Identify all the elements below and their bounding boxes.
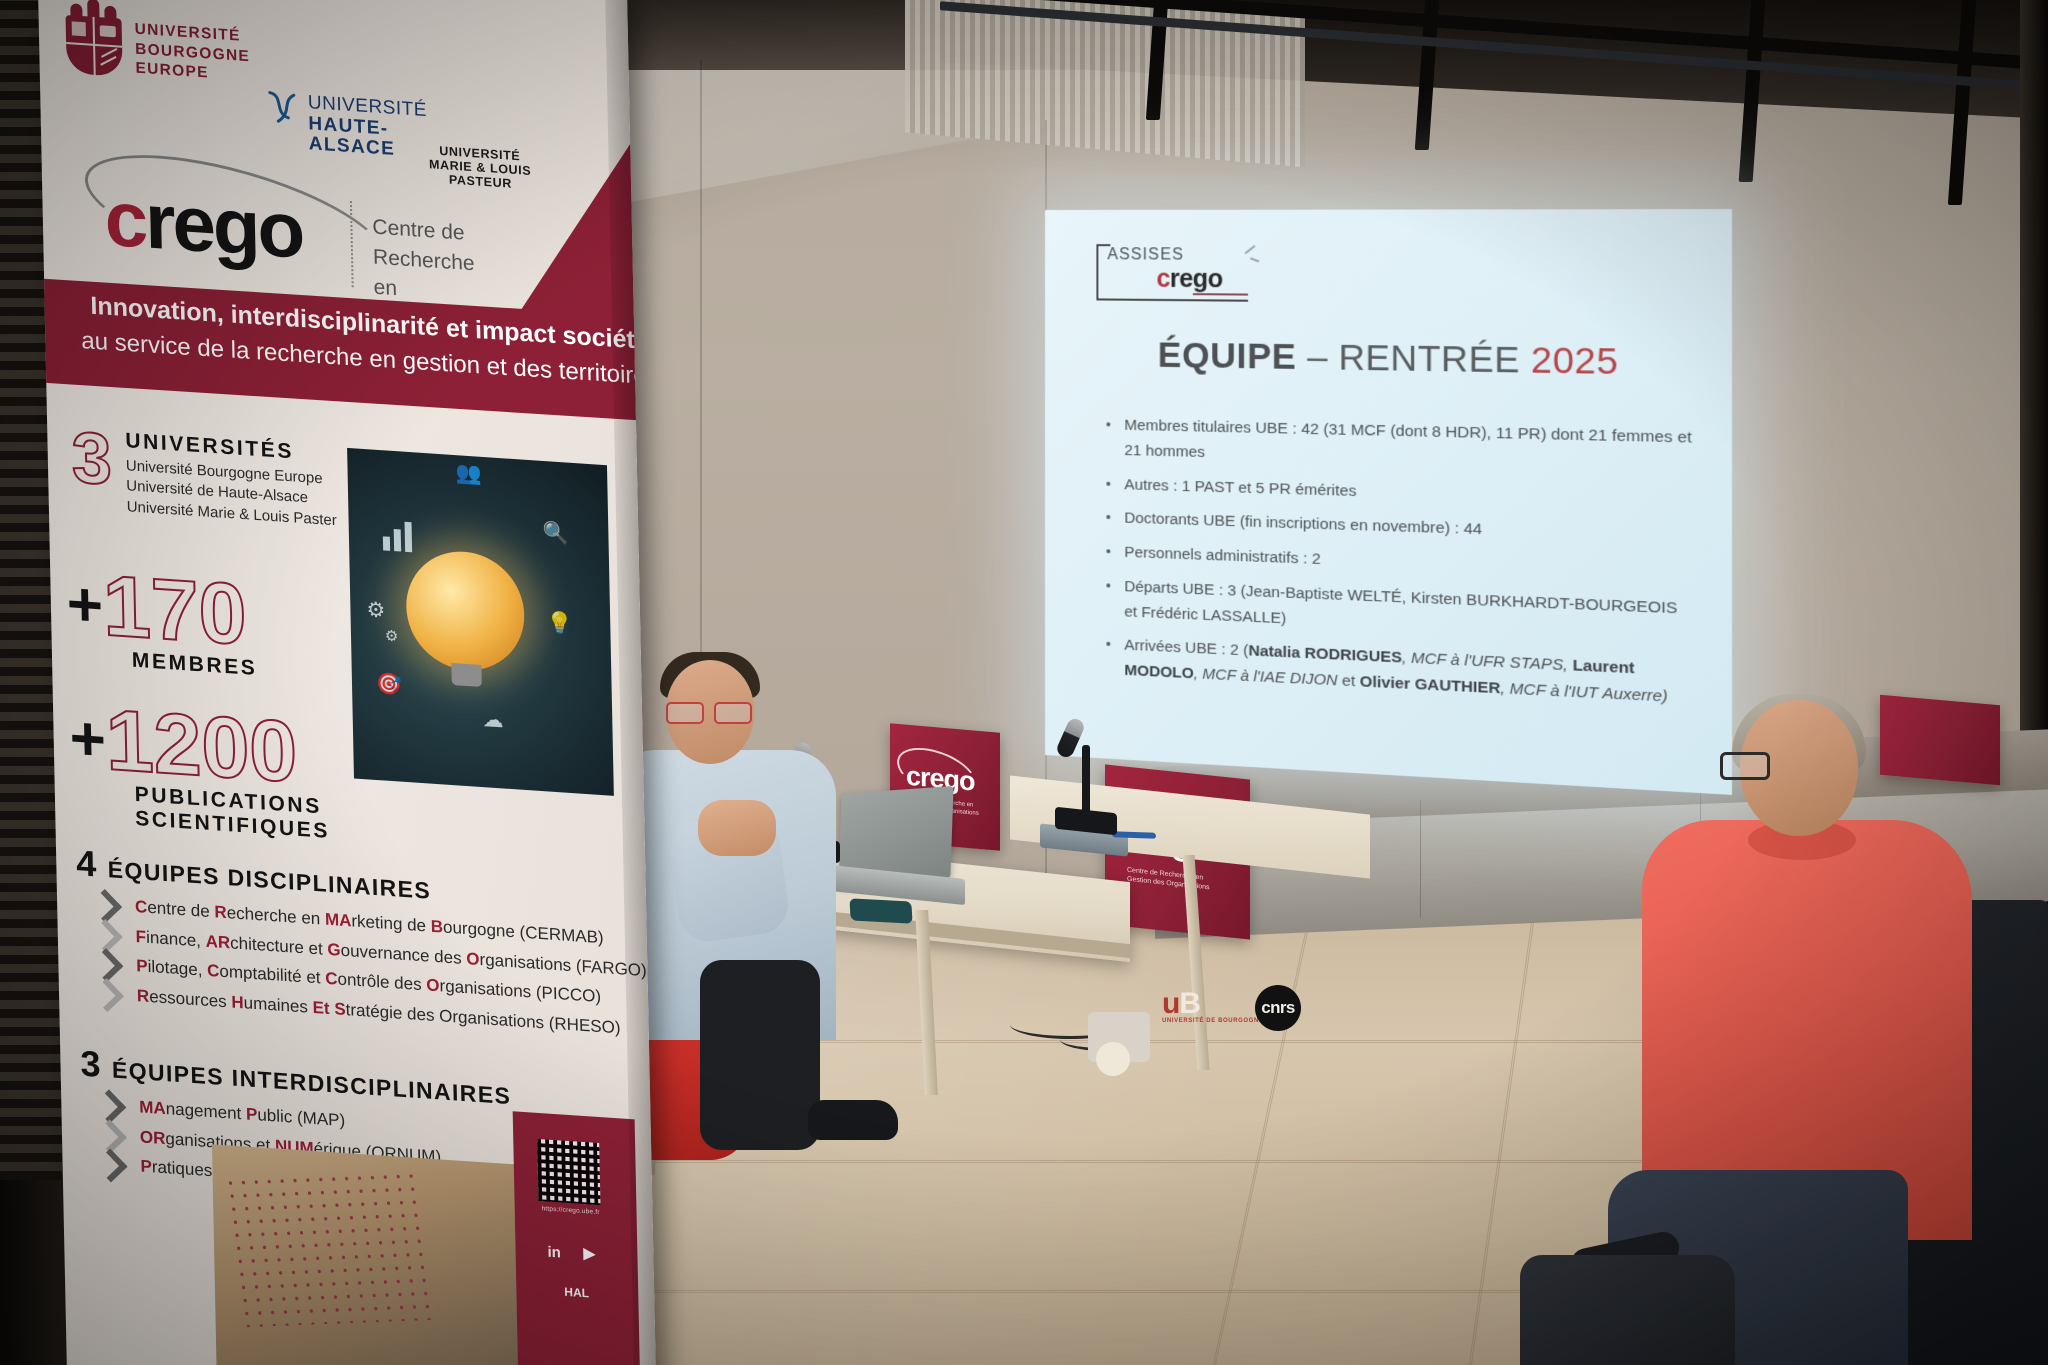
cermab-p2: R bbox=[214, 902, 227, 922]
search-icon: 🔍 bbox=[542, 521, 569, 547]
ube-shield-icon bbox=[62, 0, 126, 77]
banner-illustration: ⚙ ⚙ 🔍 💡 🎯 ☁ 👥 bbox=[347, 448, 614, 796]
bar-chart-bar-2 bbox=[394, 529, 401, 552]
target-icon: 🎯 bbox=[376, 672, 403, 698]
teams-interdisciplinary-count: 3 bbox=[80, 1042, 102, 1085]
stat-publications: + 1200 PUBLICATIONS SCIENTIFIQUES bbox=[69, 699, 330, 844]
qr-code[interactable] bbox=[537, 1139, 600, 1205]
fargo-p3: G bbox=[327, 940, 341, 960]
cermab-t3: rketing de bbox=[351, 911, 431, 935]
bullet6-lead: Arrivées UBE : 2 ( bbox=[1124, 637, 1248, 660]
fargo-t1: inance, bbox=[146, 927, 206, 950]
rheso-p2: H bbox=[231, 993, 244, 1013]
chevron-icon bbox=[90, 978, 124, 1012]
fargo-p2: AR bbox=[205, 931, 230, 952]
stat-universites-sub: Université Bourgogne Europe Université d… bbox=[126, 456, 337, 531]
cermab-t2: echerche en bbox=[227, 903, 326, 929]
ub-logo-u: u bbox=[1162, 987, 1179, 1020]
bullet6-role2: , MCF à l'IAE DIJON bbox=[1194, 665, 1338, 689]
rheso-t2: umaines bbox=[243, 993, 312, 1017]
teams-disciplinary-count: 4 bbox=[76, 842, 98, 885]
stat-membres-plus: + bbox=[66, 576, 103, 634]
fargo-t2: chitecture et bbox=[230, 933, 328, 959]
stage-seam bbox=[1420, 800, 1421, 918]
glasses-lens-left bbox=[666, 702, 704, 724]
cloud-icon: ☁ bbox=[482, 707, 504, 733]
bullet6-name3: Olivier GAUTHIER bbox=[1360, 673, 1501, 698]
microphone-stem-right bbox=[1082, 745, 1090, 819]
crego-cube-center-sub: Centre de Recherche en Gestion des Organ… bbox=[1127, 867, 1210, 893]
backpack bbox=[1520, 1255, 1735, 1365]
cnrs-logo: cnrs bbox=[1255, 985, 1301, 1031]
ube-logo-text: UNIVERSITÉ BOURGOGNE EUROPE bbox=[134, 20, 250, 86]
people-icon: 👥 bbox=[455, 461, 482, 487]
lightbulb-icon bbox=[405, 548, 525, 674]
picco-p4: O bbox=[426, 976, 440, 996]
crego-word: crego bbox=[104, 173, 303, 277]
cermab-p3: MA bbox=[325, 910, 352, 931]
ornum-p1: OR bbox=[140, 1127, 166, 1148]
slide-title-bold: ÉQUIPE bbox=[1158, 335, 1297, 377]
bar-chart-bar-1 bbox=[383, 536, 390, 550]
stat-publications-plus: + bbox=[69, 710, 106, 768]
bullet6-role1: , MCF à l'UFR STAPS, bbox=[1402, 649, 1573, 675]
universite-bourgogne-logo: uB UNIVERSITÉ DE BOURGOGNE bbox=[1162, 987, 1200, 1021]
logo-spark-icon bbox=[1245, 245, 1256, 254]
cermab-t4: ourgogne (CERMAB) bbox=[443, 917, 604, 947]
ube-logo: UNIVERSITÉ BOURGOGNE EUROPE bbox=[62, 0, 313, 90]
stat-membres-number: 170 bbox=[102, 568, 247, 655]
gear-icon: ⚙ bbox=[366, 597, 385, 623]
chevron-icon bbox=[94, 1149, 128, 1183]
crego-left-c: c bbox=[906, 761, 920, 792]
fargo-p4: O bbox=[466, 949, 480, 969]
cermab-p1: C bbox=[135, 897, 148, 917]
slide-logo-crego-text: crego bbox=[1156, 265, 1222, 295]
picco-t2: omptabilité et bbox=[219, 962, 325, 988]
cermab-p4: B bbox=[431, 917, 444, 937]
cermab-t1: entre de bbox=[147, 898, 214, 922]
hal-icon[interactable]: HAL bbox=[564, 1285, 589, 1301]
bar-chart-bar-3 bbox=[405, 522, 413, 553]
uha-mark-icon bbox=[264, 86, 305, 129]
uha-logo: UNIVERSITÉ HAUTE-ALSACE bbox=[272, 91, 462, 104]
bulb-small-icon: 💡 bbox=[546, 611, 573, 637]
bullet6-name1: Natalia RODRIGUES bbox=[1248, 642, 1402, 667]
stat-publications-number: 1200 bbox=[105, 702, 298, 792]
youtube-icon[interactable]: ▶ bbox=[583, 1244, 595, 1263]
floor-light-bulb bbox=[1096, 1042, 1130, 1076]
ub-logo-caption: UNIVERSITÉ DE BOURGOGNE bbox=[1162, 1018, 1263, 1024]
speaker-glasses-icon bbox=[666, 702, 752, 720]
speaker-shoe bbox=[808, 1100, 898, 1140]
logo-bracket-bottom bbox=[1096, 298, 1248, 301]
glasses-lens-right bbox=[714, 702, 752, 724]
slide-title-year: 2025 bbox=[1531, 340, 1618, 383]
ump-logo: UNIVERSITÉ MARIE & LOUIS PASTEUR bbox=[429, 143, 532, 192]
linkedin-icon[interactable]: in bbox=[547, 1244, 561, 1262]
picco-t3: ontrôle des bbox=[337, 970, 426, 995]
slide-bullet-list: Membres titulaires UBE : 42 (31 MCF (don… bbox=[1102, 413, 1693, 712]
rollup-banner: UNIVERSITÉ BOURGOGNE EUROPE UNIVERSITÉ H… bbox=[37, 0, 656, 1365]
picco-p3: C bbox=[325, 969, 338, 989]
conference-room-photo: ASSISES crego ÉQUIPE – RENTRÉE 2025 Memb… bbox=[0, 0, 2048, 1365]
crego-sub-line1: Centre de Recherche en bbox=[372, 212, 504, 310]
banner-dot-pattern bbox=[223, 1169, 440, 1327]
slide-title-light: RENTRÉE bbox=[1338, 338, 1531, 381]
audience-glasses-icon bbox=[1720, 752, 1770, 780]
map-p2: P bbox=[246, 1104, 258, 1124]
slide-bullet-1: Membres titulaires UBE : 42 (31 MCF (don… bbox=[1102, 413, 1693, 478]
bullet6-joiner: et bbox=[1338, 672, 1360, 691]
rheso-p3: Et bbox=[312, 998, 329, 1018]
gear-icon-2: ⚙ bbox=[385, 626, 399, 645]
parc-p1: P bbox=[140, 1157, 152, 1177]
slide-title-dash: – bbox=[1297, 337, 1339, 378]
stat-universites: 3 UNIVERSITÉS Université Bourgogne Europ… bbox=[71, 426, 337, 532]
fargo-t4: rganisations (FARGO) bbox=[479, 950, 647, 980]
logo-bracket-left bbox=[1096, 244, 1098, 300]
picco-p2: C bbox=[207, 961, 220, 981]
picco-t1: ilotage, bbox=[147, 957, 207, 980]
stat-membres: + 170 MEMBRES bbox=[66, 565, 258, 681]
map-t1: nagement bbox=[166, 1099, 247, 1123]
slide-logo-crego-rest: rego bbox=[1170, 265, 1223, 294]
picco-p1: P bbox=[136, 957, 148, 977]
slide-assises-crego-logo: ASSISES crego bbox=[1096, 244, 1266, 308]
map-p1: MA bbox=[139, 1097, 166, 1118]
teams-disciplinary: 4ÉQUIPES DISCIPLINAIRES Centre de Recher… bbox=[76, 842, 648, 1041]
phone-on-table[interactable] bbox=[849, 898, 912, 923]
rheso-p1: R bbox=[137, 986, 150, 1006]
rheso-t1: essources bbox=[149, 987, 232, 1012]
slide-logo-crego-c: c bbox=[1156, 265, 1169, 293]
stat-universites-number: 3 bbox=[71, 426, 112, 494]
picco-t4: rganisations (PICCO) bbox=[439, 977, 601, 1007]
logo-spark2-icon bbox=[1250, 257, 1259, 262]
crego-word-rest: rego bbox=[144, 176, 303, 275]
ub-logo-b: B bbox=[1179, 987, 1200, 1020]
map-t2: ublic (MAP) bbox=[257, 1105, 345, 1130]
speaker-leg-dark bbox=[700, 960, 820, 1150]
rheso-p4: S bbox=[334, 999, 346, 1019]
shield-icon bbox=[66, 15, 123, 77]
slide-title: ÉQUIPE – RENTRÉE 2025 bbox=[1090, 335, 1693, 385]
teams-disciplinary-title: ÉQUIPES DISCIPLINAIRES bbox=[107, 856, 431, 904]
speaker-hands bbox=[698, 800, 776, 856]
fargo-t3: ouvernance des bbox=[340, 940, 466, 967]
slide-logo-assises-text: ASSISES bbox=[1107, 246, 1184, 264]
crego-word-c: c bbox=[104, 174, 146, 265]
audience-person bbox=[1590, 700, 2030, 1365]
